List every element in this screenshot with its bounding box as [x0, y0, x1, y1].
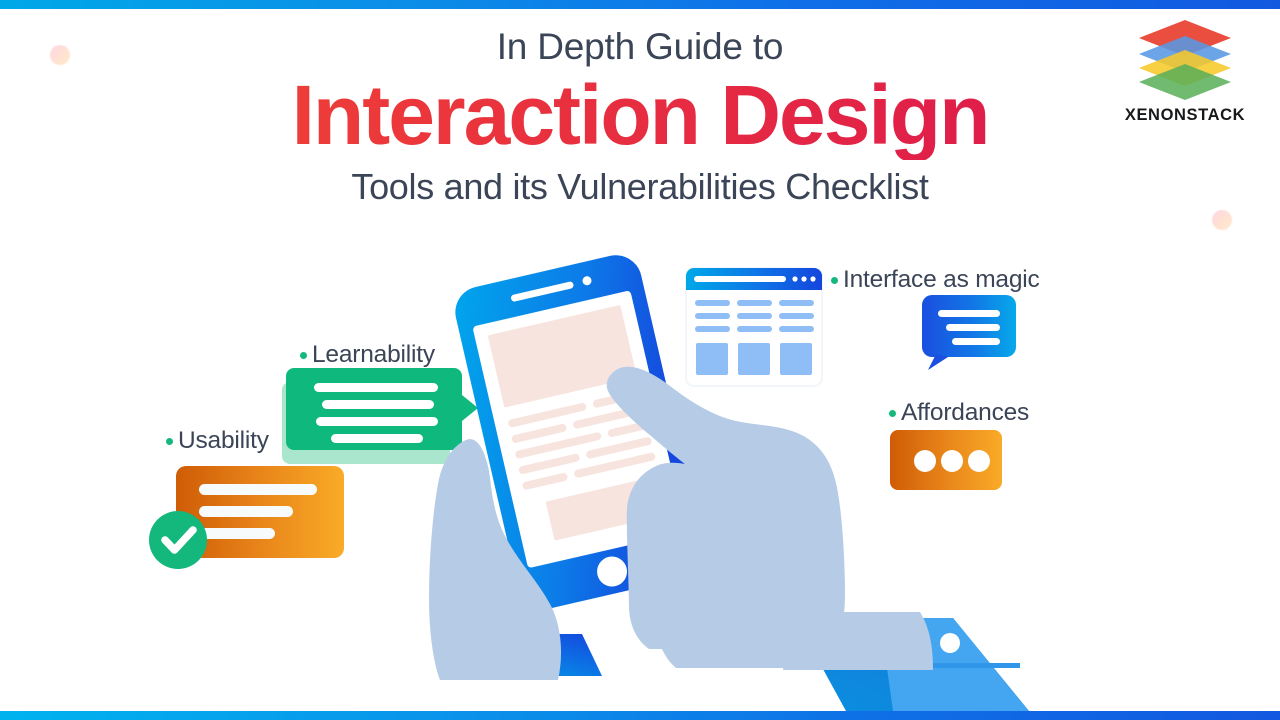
- brand-logo: XENONSTACK: [1120, 18, 1250, 125]
- learnability-card: [282, 368, 478, 464]
- label-usability-text: Usability: [178, 427, 269, 455]
- usability-card: [149, 466, 344, 569]
- bullet-icon: [831, 277, 838, 284]
- interface-as-magic-card: [922, 295, 1016, 370]
- header-subtitle: Tools and its Vulnerabilities Checklist: [0, 166, 1280, 208]
- browser-window-mockup: [686, 268, 822, 386]
- label-interface-text: Interface as magic: [843, 266, 1040, 294]
- label-interface-as-magic: Interface as magic: [831, 266, 1040, 294]
- bullet-icon: [166, 438, 173, 445]
- soft-dot-right-icon: [1212, 210, 1232, 230]
- affordances-card: [890, 430, 1002, 490]
- bullet-icon: [300, 352, 307, 359]
- label-affordances-text: Affordances: [901, 399, 1029, 427]
- header-kicker: In Depth Guide to: [0, 26, 1280, 69]
- top-accent-bar: [0, 0, 1280, 9]
- xenonstack-stack-icon: [1135, 18, 1235, 102]
- illustration: [0, 240, 1280, 720]
- label-usability: Usability: [166, 427, 269, 455]
- bullet-icon: [889, 410, 896, 417]
- brand-name: XENONSTACK: [1120, 106, 1250, 125]
- label-learnability-text: Learnability: [312, 341, 435, 369]
- check-circle-icon: [149, 511, 207, 569]
- label-affordances: Affordances: [889, 399, 1029, 427]
- label-learnability: Learnability: [300, 341, 435, 369]
- bottom-accent-bar: [0, 711, 1280, 720]
- header: In Depth Guide to Interaction Design Too…: [0, 26, 1280, 208]
- poster-canvas: In Depth Guide to Interaction Design Too…: [0, 0, 1280, 720]
- page-title: Interaction Design: [0, 71, 1280, 160]
